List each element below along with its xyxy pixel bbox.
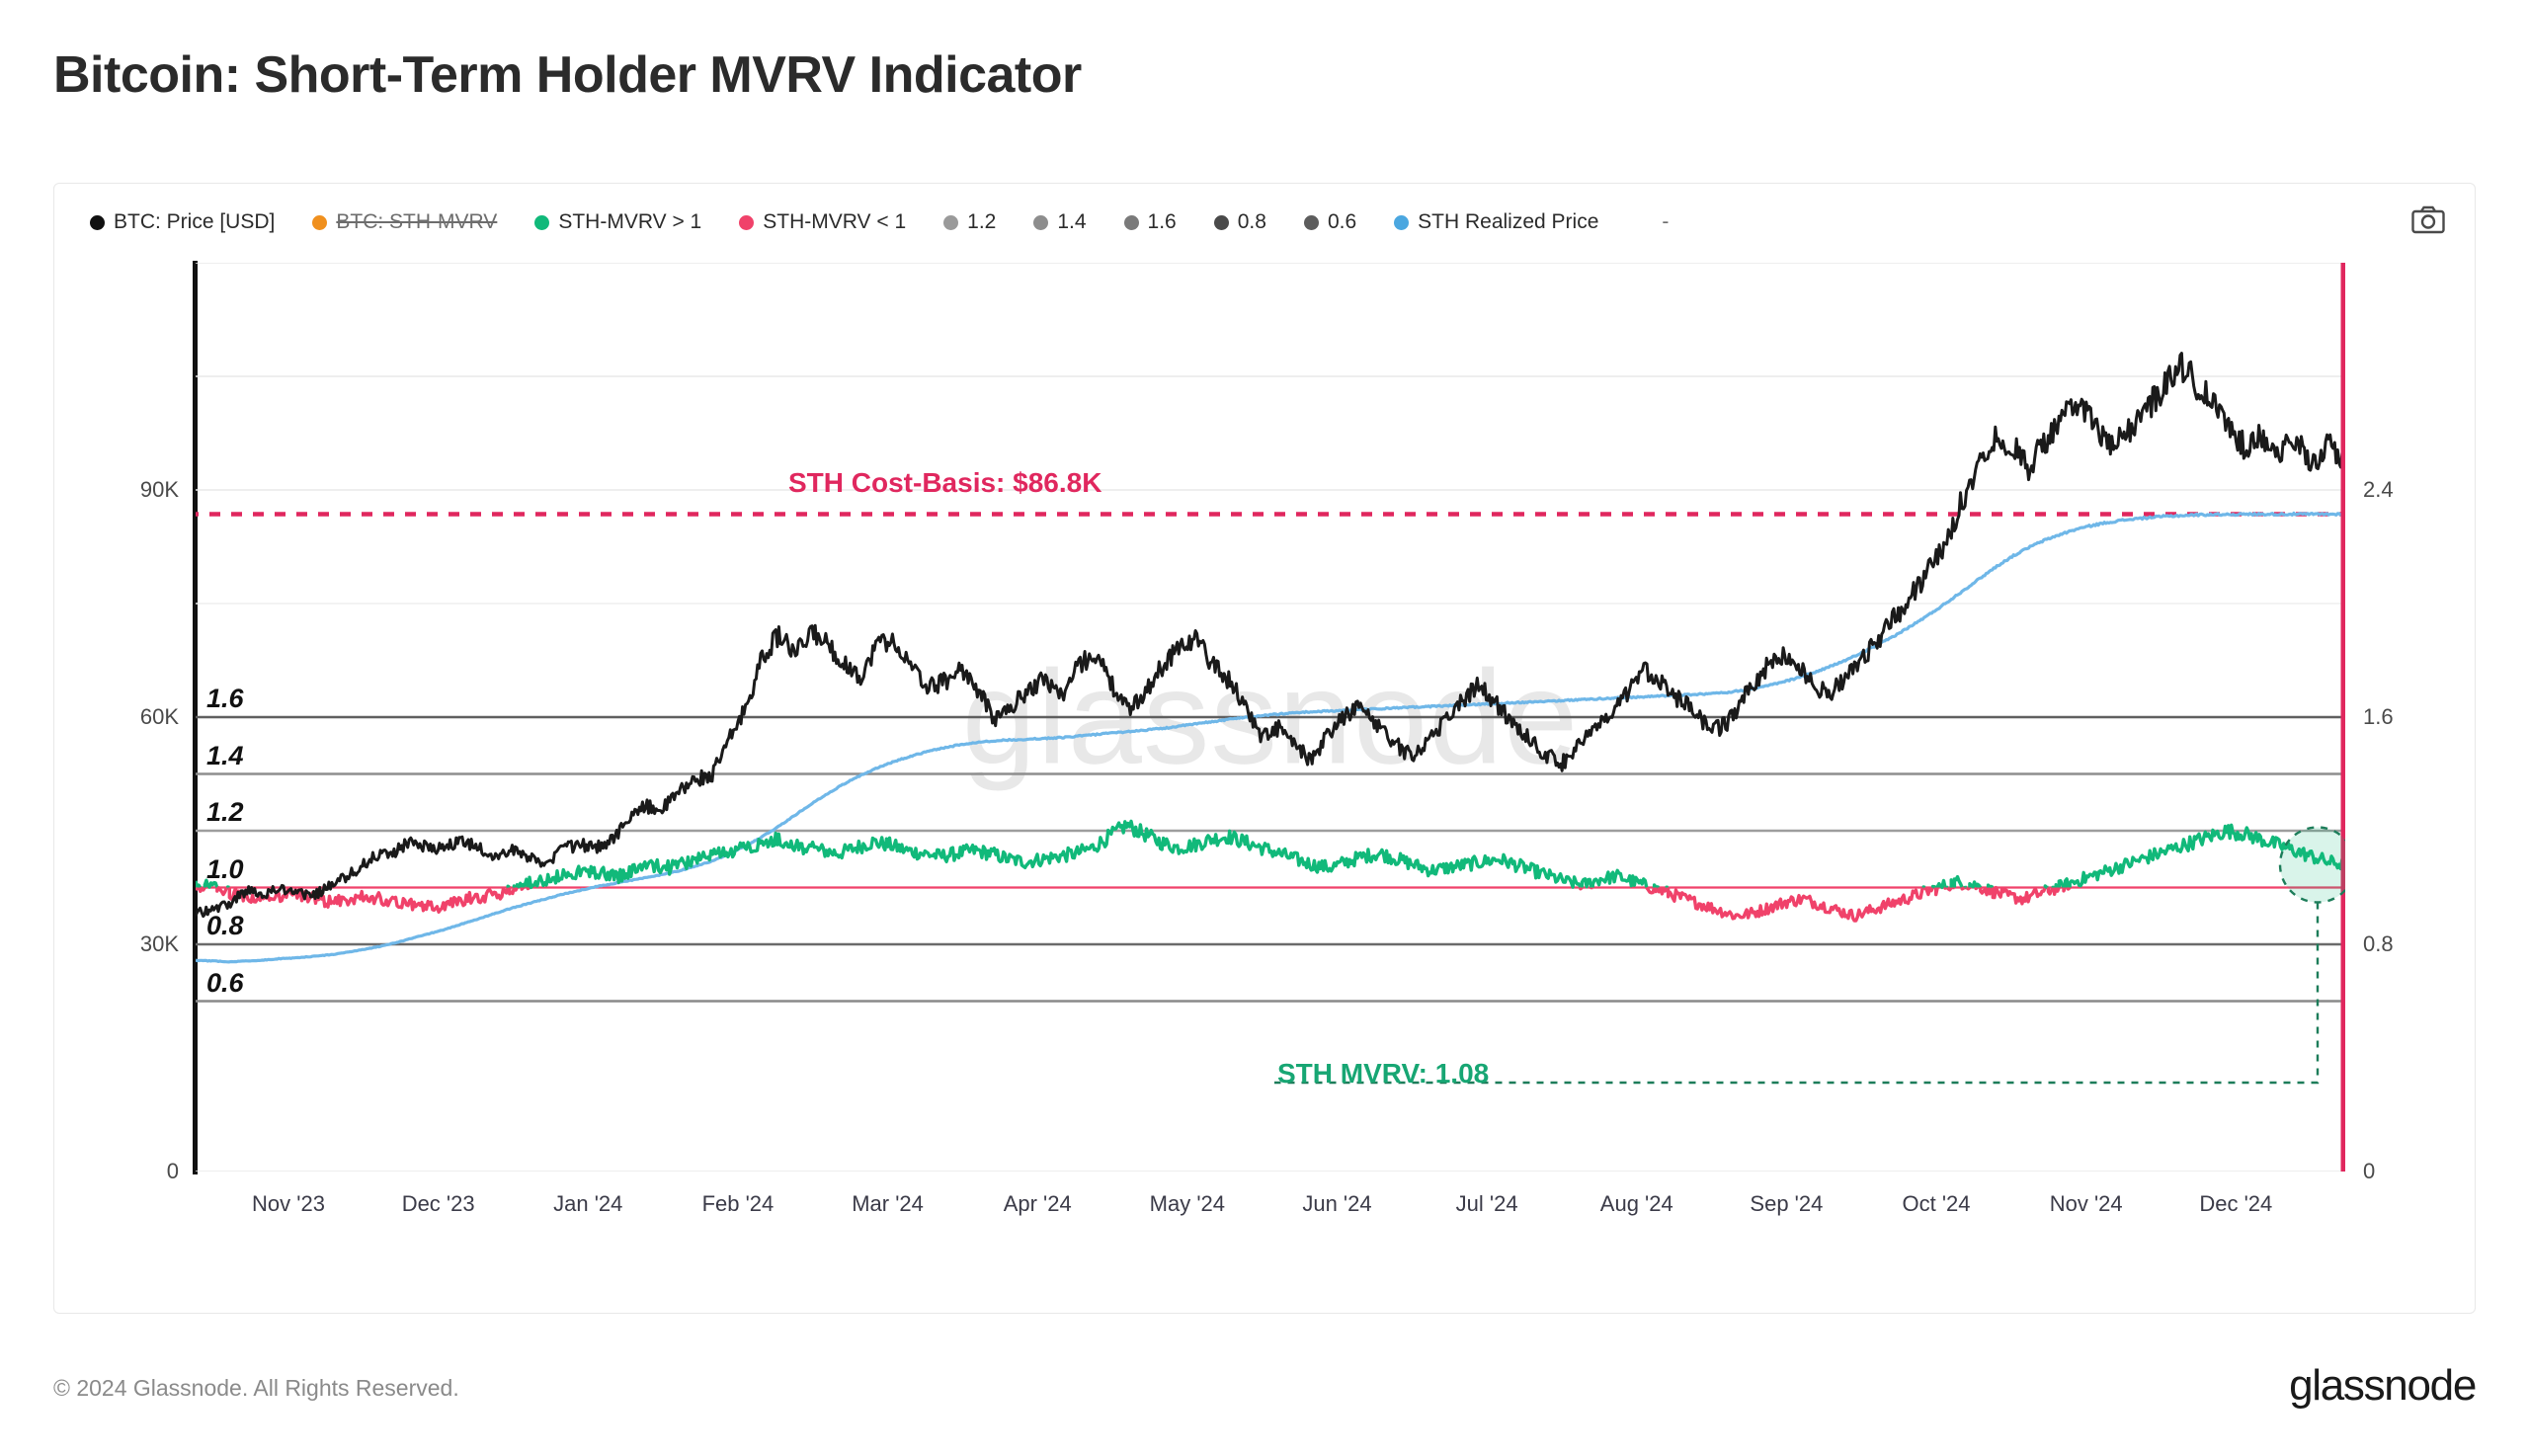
page-title: Bitcoin: Short-Term Holder MVRV Indicato… xyxy=(53,45,1082,105)
legend-swatch-icon xyxy=(312,215,327,230)
threshold-label: 0.6 xyxy=(204,968,244,999)
y-right-tick: 2.4 xyxy=(2345,477,2454,503)
x-axis-tick: May '24 xyxy=(1150,1191,1225,1217)
legend-item-4[interactable]: 1.2 xyxy=(943,210,996,234)
chart-card: BTC: Price [USD]BTC: STH-MVRVSTH-MVRV > … xyxy=(53,183,2476,1314)
legend-swatch-icon xyxy=(1124,215,1139,230)
legend-item-8[interactable]: 0.6 xyxy=(1304,210,1356,234)
threshold-label: 1.2 xyxy=(204,797,244,828)
legend-item-label: BTC: Price [USD] xyxy=(114,210,275,234)
y-left-tick: 60K xyxy=(54,704,193,730)
y-right-tick: 0.8 xyxy=(2345,931,2454,957)
legend-item-7[interactable]: 0.8 xyxy=(1214,210,1266,234)
y-left-tick: 0 xyxy=(54,1159,193,1184)
x-axis-tick: Apr '24 xyxy=(1004,1191,1072,1217)
y-right-tick: 0 xyxy=(2345,1159,2454,1184)
legend-item-label: 1.2 xyxy=(967,210,996,234)
legend-item-0[interactable]: BTC: Price [USD] xyxy=(90,210,275,234)
x-axis-tick: Sep '24 xyxy=(1750,1191,1823,1217)
x-axis-tick: Oct '24 xyxy=(1903,1191,1971,1217)
x-axis-tick: Dec '24 xyxy=(2199,1191,2272,1217)
x-axis-tick: Dec '23 xyxy=(402,1191,475,1217)
legend-item-9[interactable]: STH Realized Price xyxy=(1394,210,1598,234)
footer-copyright: © 2024 Glassnode. All Rights Reserved. xyxy=(53,1375,459,1402)
x-axis-tick: Mar '24 xyxy=(852,1191,924,1217)
y-right-tick: 1.6 xyxy=(2345,704,2454,730)
chart-canvas xyxy=(196,263,2345,1172)
threshold-label: 1.6 xyxy=(204,684,244,714)
legend-swatch-icon xyxy=(90,215,105,230)
mvrv-annotation: STH MVRV: 1.08 xyxy=(1277,1058,1489,1090)
x-axis-tick: Feb '24 xyxy=(702,1191,775,1217)
x-axis-tick: Nov '23 xyxy=(252,1191,325,1217)
x-axis-tick: Jul '24 xyxy=(1456,1191,1518,1217)
x-axis-tick: Nov '24 xyxy=(2050,1191,2123,1217)
threshold-label: 1.4 xyxy=(204,741,244,771)
legend-swatch-icon xyxy=(1394,215,1409,230)
legend-swatch-icon xyxy=(1033,215,1048,230)
legend-item-label: 1.4 xyxy=(1057,210,1086,234)
legend-item-label: STH Realized Price xyxy=(1418,210,1598,234)
legend-item-6[interactable]: 1.6 xyxy=(1124,210,1177,234)
cost-basis-annotation: STH Cost-Basis: $86.8K xyxy=(788,467,1101,499)
legend-swatch-icon xyxy=(1304,215,1319,230)
y-left-tick: 30K xyxy=(54,931,193,957)
legend-item-1[interactable]: BTC: STH-MVRV xyxy=(312,210,497,234)
legend-swatch-icon xyxy=(1214,215,1229,230)
threshold-label: 0.8 xyxy=(204,911,244,941)
glassnode-logo: glassnode xyxy=(2289,1361,2476,1411)
legend-item-label: 0.8 xyxy=(1238,210,1266,234)
legend-item-label: STH-MVRV < 1 xyxy=(763,210,906,234)
x-axis-tick: Jan '24 xyxy=(553,1191,622,1217)
legend-item-label: 1.6 xyxy=(1148,210,1177,234)
legend-item-label: BTC: STH-MVRV xyxy=(336,210,497,234)
chart-page: Bitcoin: Short-Term Holder MVRV Indicato… xyxy=(0,0,2529,1456)
x-axis-tick: Aug '24 xyxy=(1600,1191,1673,1217)
camera-icon[interactable] xyxy=(2411,205,2445,235)
legend-item-label: STH-MVRV > 1 xyxy=(558,210,701,234)
legend-item-label: 0.6 xyxy=(1328,210,1356,234)
legend-item-2[interactable]: STH-MVRV > 1 xyxy=(534,210,701,234)
chart-legend: BTC: Price [USD]BTC: STH-MVRVSTH-MVRV > … xyxy=(90,209,1669,235)
plot-area: glassnode xyxy=(196,263,2345,1172)
legend-item-5[interactable]: 1.4 xyxy=(1033,210,1086,234)
legend-swatch-icon xyxy=(943,215,958,230)
legend-swatch-icon xyxy=(739,215,754,230)
y-left-tick: 90K xyxy=(54,477,193,503)
threshold-label: 1.0 xyxy=(204,854,244,885)
legend-item-3[interactable]: STH-MVRV < 1 xyxy=(739,210,906,234)
x-axis-tick: Jun '24 xyxy=(1302,1191,1371,1217)
legend-swatch-icon xyxy=(534,215,549,230)
legend-trailing-dash: - xyxy=(1662,210,1669,234)
